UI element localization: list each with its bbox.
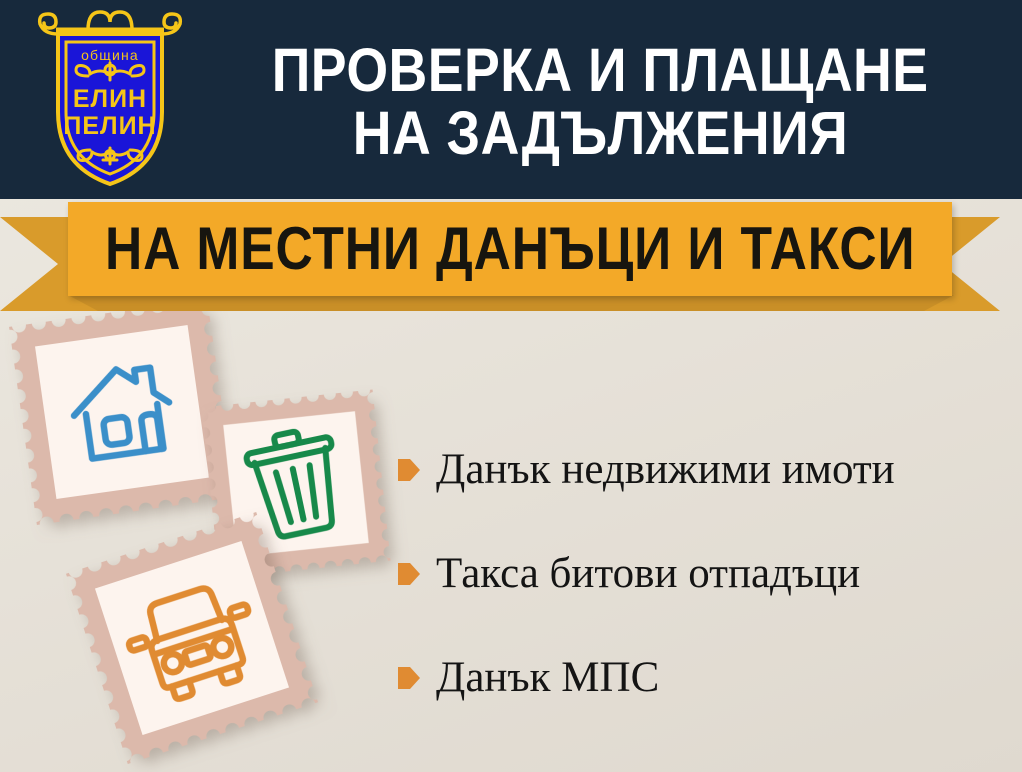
chevron-bullet-icon [398, 561, 420, 587]
chevron-bullet-icon [398, 665, 420, 691]
ribbon-fold-shadow [68, 295, 954, 311]
subtitle-ribbon: НА МЕСТНИ ДАНЪЦИ И ТАКСИ [0, 196, 1022, 306]
municipality-crest-logo: община ЕЛИН ПЕЛИН [30, 8, 190, 188]
list-item[interactable]: Данък МПС [398, 626, 1013, 730]
crest-line3: ПЕЛИН [63, 112, 156, 140]
crest-line1: община [81, 47, 139, 63]
list-item[interactable]: Такса битови отпадъци [398, 522, 1013, 626]
ribbon-body: НА МЕСТНИ ДАНЪЦИ И ТАКСИ [68, 202, 952, 296]
chevron-bullet-icon [398, 457, 420, 483]
crest-line2: ЕЛИН [73, 85, 147, 113]
title-line-1: ПРОВЕРКА И ПЛАЩАНЕ [272, 39, 929, 102]
page-title: ПРОВЕРКА И ПЛАЩАНЕ НА ЗАДЪЛЖЕНИЯ [190, 12, 1010, 192]
list-item-label: Данък недвижими имоти [436, 446, 895, 493]
poster-canvas: община ЕЛИН ПЕЛИН [0, 0, 1022, 772]
title-line-2: НА ЗАДЪЛЖЕНИЯ [352, 102, 847, 165]
list-item-label: Такса битови отпадъци [436, 550, 860, 597]
coat-of-arms-icon: община ЕЛИН ПЕЛИН [30, 8, 190, 188]
tax-type-list: Данък недвижими имоти Такса битови отпад… [398, 418, 1013, 730]
list-item[interactable]: Данък недвижими имоти [398, 418, 1013, 522]
list-item-label: Данък МПС [436, 654, 659, 701]
ribbon-label: НА МЕСТНИ ДАНЪЦИ И ТАКСИ [105, 219, 915, 279]
